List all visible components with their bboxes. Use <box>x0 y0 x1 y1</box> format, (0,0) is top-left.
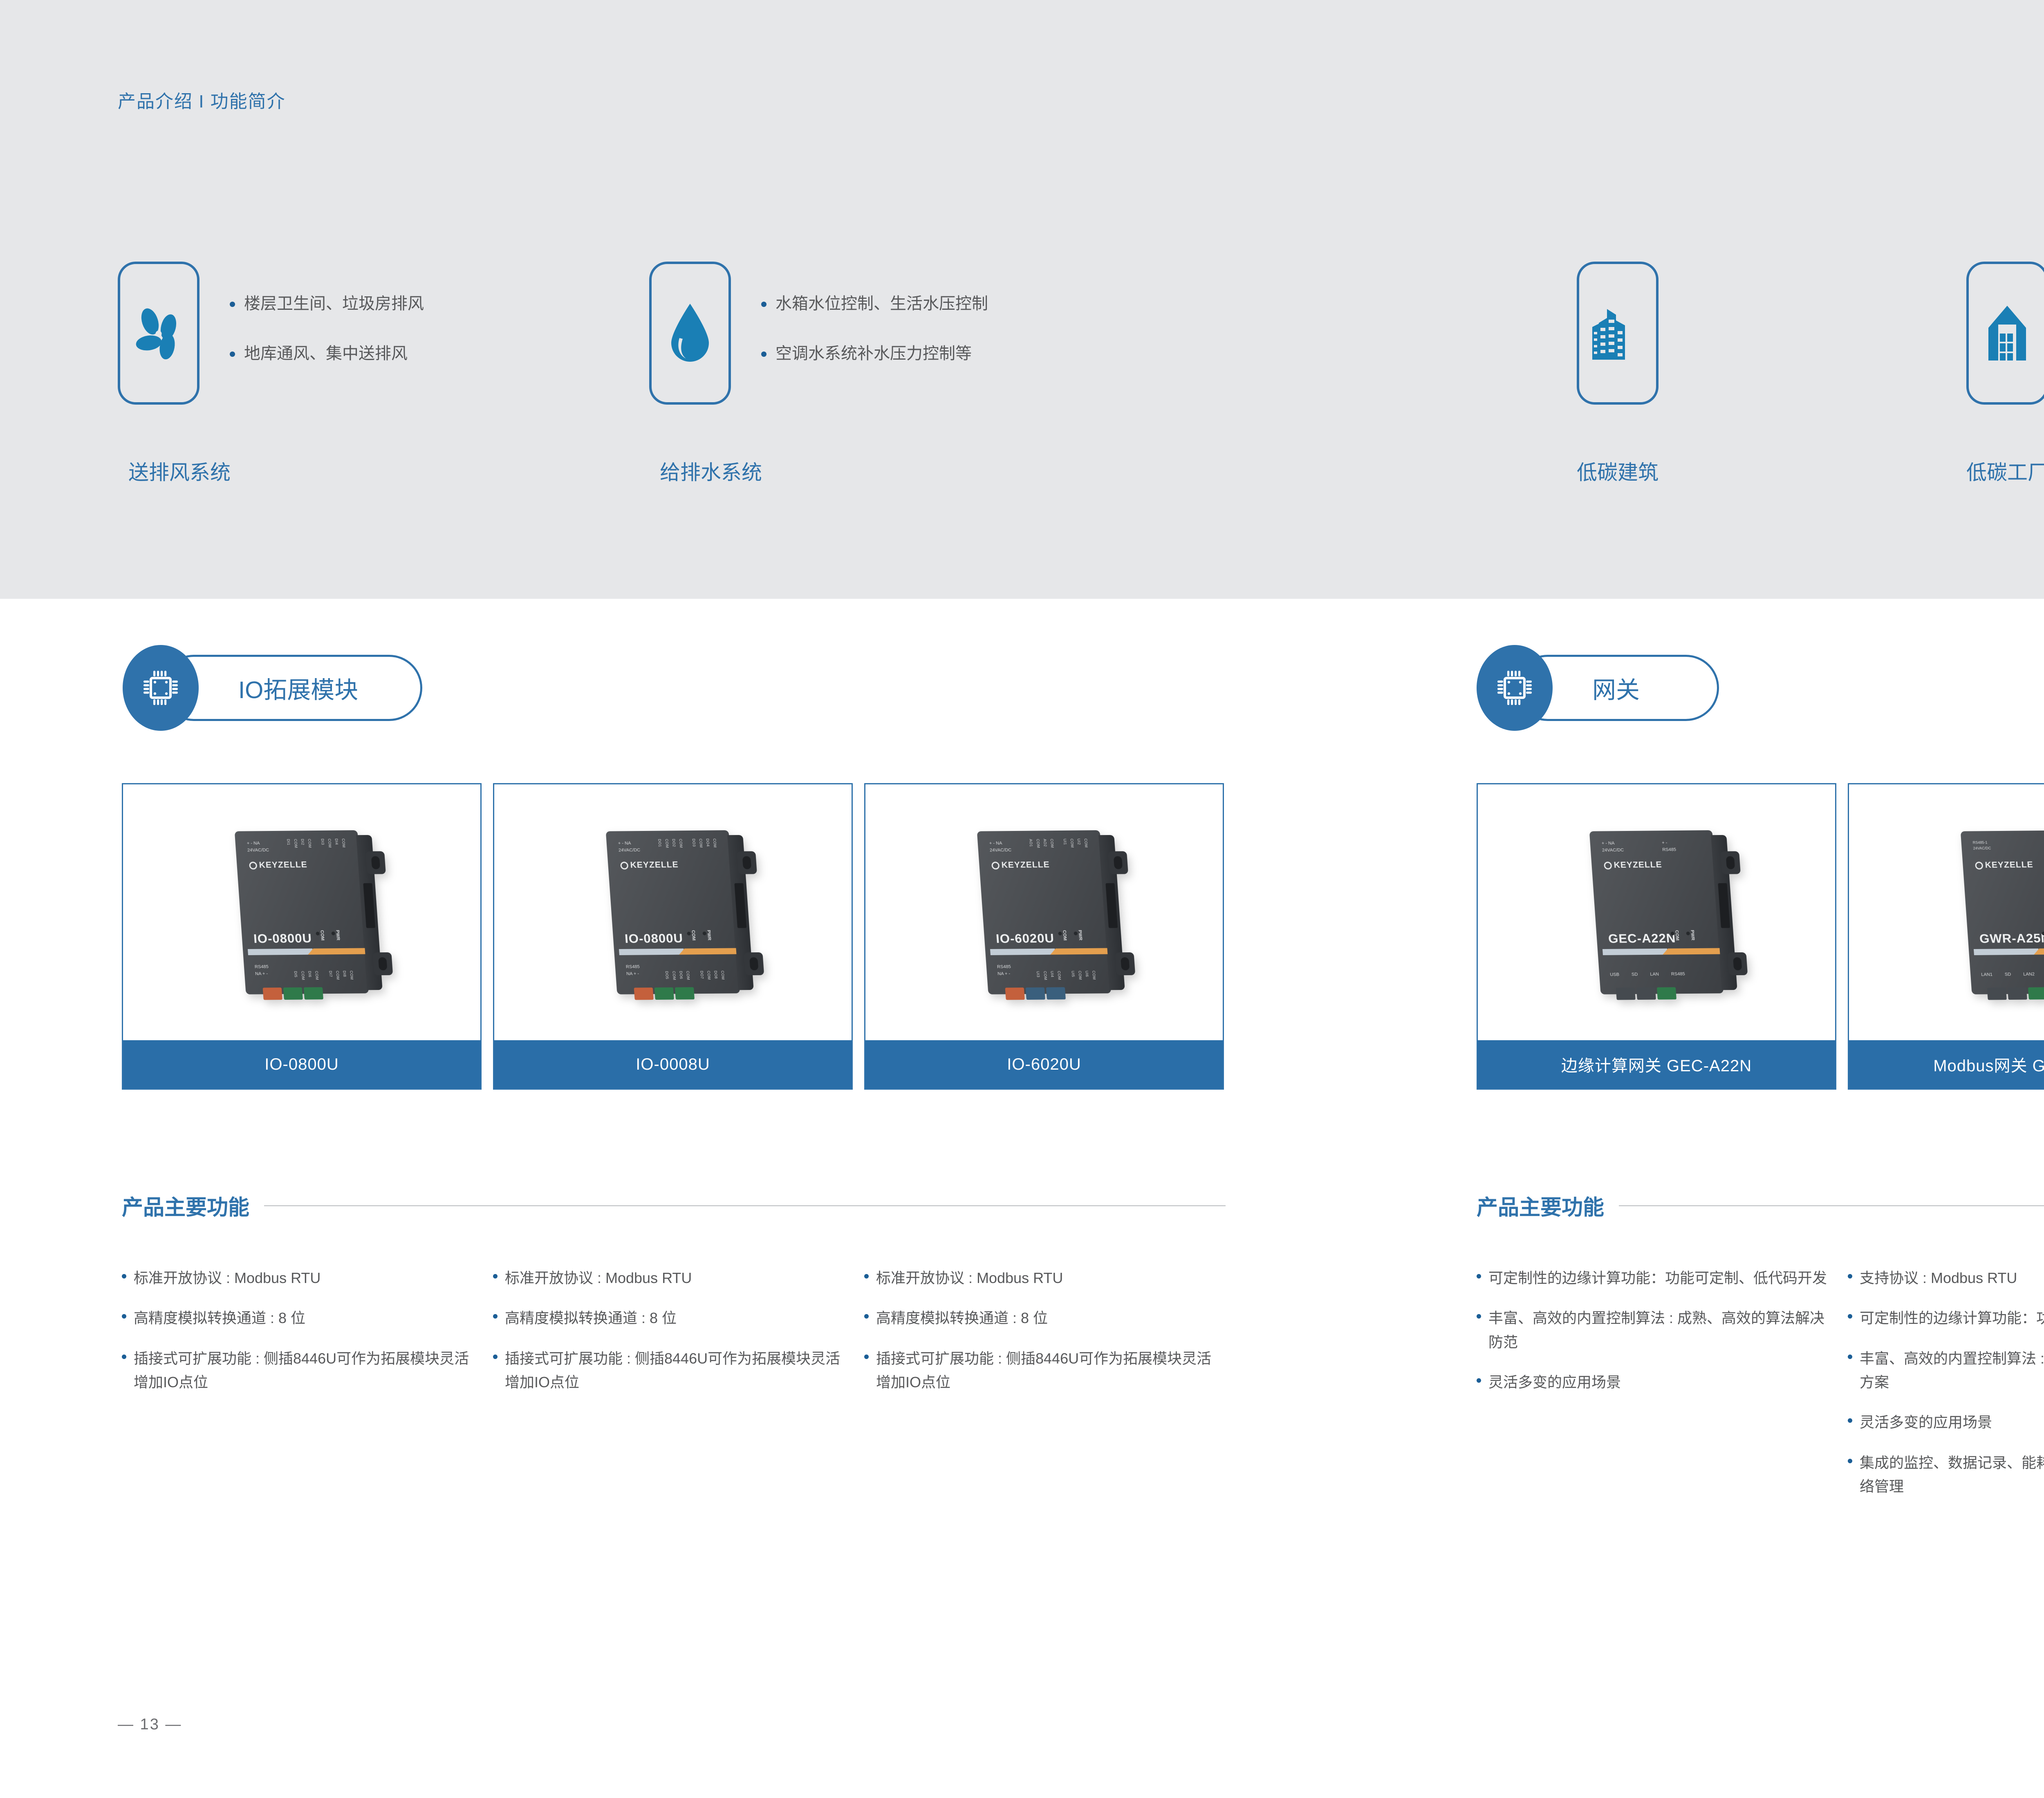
device-bus-label: RS485 NA + - <box>625 963 640 977</box>
bullet-item: 楼层卫生间、垃圾房排风 <box>230 293 424 314</box>
device-leds: COM PWR <box>2042 930 2044 940</box>
device-terminals <box>1616 987 1676 1000</box>
bullet-text: 楼层卫生间、垃圾房排风 <box>244 293 424 314</box>
feature-text: 丰富、高效的内置控制算法 : 成熟、高效的算法解决方案 <box>1860 1347 2044 1395</box>
feature-item: 高精度模拟转换通道 : 8 位 <box>493 1306 845 1330</box>
bullet-dot-icon <box>493 1355 498 1359</box>
device-mount-ear <box>744 952 764 975</box>
device-mount-ear <box>365 851 386 874</box>
feature-item: 支持协议 : Modbus RTU <box>1848 1266 2044 1290</box>
product-image: RS485-1 24VAC/DC KEYZELLE GWR-A25N COM P… <box>1849 784 2044 1040</box>
led-pwr: PWR <box>331 930 341 940</box>
feature-column-gateway-2: 支持协议 : Modbus RTU 可定制性的边缘计算功能：功能可定制、低代码开… <box>1848 1266 2044 1515</box>
device-bottom-pins-2: DI7 COM DI8 COM <box>328 970 354 980</box>
feature-text: 插接式可扩展功能 : 侧插8446U可作为拓展模块灵活增加IO点位 <box>134 1347 473 1395</box>
section-header-io-pill: IO拓展模块 <box>161 655 422 721</box>
feature-item: 丰富、高效的内置控制算法 : 成熟、高效的算法解决方案 <box>1848 1347 2044 1395</box>
chip-icon <box>139 667 182 709</box>
feature-item: 标准开放协议 : Modbus RTU <box>493 1266 845 1290</box>
product-card-io-0800u[interactable]: + - NA 24VAC/DC DI1 COM DI2 COM DI3 COM … <box>122 783 482 1090</box>
fan-icon <box>128 302 189 364</box>
scenario-water-supply-bullets: 水箱水位控制、生活水压控制 空调水系统补水压力控制等 <box>761 262 988 364</box>
feature-text: 插接式可扩展功能 : 侧插8446U可作为拓展模块灵活增加IO点位 <box>505 1347 845 1395</box>
feature-item: 可定制性的边缘计算功能：功能可定制、低代码开发 <box>1477 1266 1828 1290</box>
product-image: + - NA 24VAC/DC + - RS485 KEYZELLE GEC-A… <box>1478 784 1835 1040</box>
device-leds: COM PWR <box>1058 930 1083 940</box>
device-power-label: + - NA 24VAC/DC <box>247 840 269 853</box>
device-leds: COM PWR <box>687 930 712 940</box>
device-bottom-pins: DO5 COM DO6 COM <box>665 971 690 980</box>
device-stripe-orange <box>1050 948 1107 954</box>
device-brand: KEYZELLE <box>1604 860 1663 870</box>
bullet-dot-icon <box>122 1355 126 1359</box>
running-header-left: 产品介绍 I 功能简介 <box>118 87 286 113</box>
feature-text: 丰富、高效的内置控制算法 : 成熟、高效的算法解决防范 <box>1488 1306 1828 1354</box>
device-stripe-silver <box>1602 949 1667 955</box>
bullet-dot-icon <box>761 352 766 357</box>
feature-text: 灵活多变的应用场景 <box>1860 1411 1992 1434</box>
bullet-dot-icon <box>1477 1378 1481 1383</box>
bullet-dot-icon <box>1848 1418 1852 1423</box>
scenario-ventilation-bullets: 楼层卫生间、垃圾房排风 地库通风、集中送排风 <box>230 262 424 364</box>
device-top-pins: DI1 COM DI2 COM <box>286 839 312 848</box>
product-caption: IO-6020U <box>865 1040 1223 1088</box>
factory-icon <box>1979 298 2036 368</box>
device-leds: COM PWR <box>1670 930 1695 940</box>
device-mount-ear <box>372 952 393 975</box>
led-com: COM <box>2042 930 2044 941</box>
device-model-text: GWR-A25N <box>1979 931 2044 946</box>
water-drop-icon-box <box>649 262 731 405</box>
product-caption: IO-0800U <box>123 1040 480 1088</box>
fan-icon-box <box>118 262 199 405</box>
feature-text: 标准开放协议 : Modbus RTU <box>505 1266 692 1290</box>
product-image: + - NA 24VAC/DC DI1 COM DI2 COM DI3 COM … <box>123 784 480 1040</box>
device-terminals <box>1987 987 2044 1000</box>
device-top-pins-2: UI1 COM UI2 COM <box>1063 838 1089 848</box>
low-carbon-building-icon-box <box>1577 262 1659 405</box>
feature-column-gateway-1: 可定制性的边缘计算功能：功能可定制、低代码开发 丰富、高效的内置控制算法 : 成… <box>1477 1266 1828 1411</box>
device-top-pins: AO1 COM AO2 COM <box>1029 839 1054 848</box>
feature-item: 插接式可扩展功能 : 侧插8446U可作为拓展模块灵活增加IO点位 <box>864 1347 1216 1395</box>
feature-column-io-1: 标准开放协议 : Modbus RTU 高精度模拟转换通道 : 8 位 插接式可… <box>122 1266 473 1411</box>
device-body <box>1961 830 2044 994</box>
feature-item: 标准开放协议 : Modbus RTU <box>122 1266 473 1290</box>
feature-heading-gateway-title: 产品主要功能 <box>1477 1190 1604 1221</box>
bullet-dot-icon <box>1477 1274 1481 1279</box>
feature-text: 高精度模拟转换通道 : 8 位 <box>505 1306 677 1330</box>
device-bottom-pins: DI5 COM DI6 COM <box>294 971 319 980</box>
scenario-water-supply-label: 给排水系统 <box>660 456 762 486</box>
section-header-gateway-title: 网关 <box>1592 671 1640 705</box>
device-brand: KEYZELLE <box>249 860 308 870</box>
bullet-dot-icon <box>1848 1274 1852 1279</box>
brand-logo-icon <box>249 862 257 869</box>
brand-logo-icon <box>1604 862 1612 869</box>
product-card-io-6020u[interactable]: + - NA 24VAC/DC AO1 COM AO2 COM UI1 COM … <box>864 783 1224 1090</box>
device-power-label: + - NA 24VAC/DC <box>1601 840 1624 853</box>
low-carbon-factory-icon-box <box>1966 262 2044 405</box>
chip-icon-badge <box>1477 645 1553 731</box>
feature-text: 可定制性的边缘计算功能：功能可定制、低代码开发 <box>1860 1306 2044 1330</box>
led-com: COM <box>1058 930 1067 941</box>
scenario-water-supply: 水箱水位控制、生活水压控制 空调水系统补水压力控制等 <box>649 262 988 405</box>
bullet-text: 空调水系统补水压力控制等 <box>775 343 972 364</box>
device-stripe-silver <box>1974 949 2039 955</box>
bullet-dot-icon <box>1477 1314 1481 1319</box>
low-carbon-building-label: 低碳建筑 <box>1556 456 1679 486</box>
device-bottom-pins: UI3 COM UI4 COM <box>1036 971 1062 980</box>
chip-icon-badge <box>123 645 199 731</box>
bullet-dot-icon <box>230 302 235 307</box>
led-pwr: PWR <box>702 930 712 940</box>
device-power-label: + - NA 24VAC/DC <box>989 840 1011 853</box>
device-ports: USB SD LAN RS485 <box>1610 971 1685 978</box>
feature-heading-gateway: 产品主要功能 <box>1477 1190 2044 1221</box>
product-caption: 边缘计算网关 GEC-A22N <box>1478 1040 1835 1088</box>
feature-item: 标准开放协议 : Modbus RTU <box>864 1266 1216 1290</box>
device-bottom-pins-2: UI5 COM UI6 COM <box>1071 970 1096 980</box>
device-brand: KEYZELLE <box>1975 860 2034 870</box>
product-caption: IO-0008U <box>494 1040 852 1088</box>
section-header-gateway: 网关 <box>1477 645 1730 731</box>
device-power-label: RS485-1 24VAC/DC <box>1972 840 1991 851</box>
bullet-dot-icon <box>864 1355 869 1359</box>
brand-logo-icon <box>991 862 1000 869</box>
device-illustration: + - NA 24VAC/DC + - RS485 KEYZELLE GEC-A… <box>1589 830 1724 994</box>
device-mount-ear <box>1720 851 1741 874</box>
feature-item: 高精度模拟转换通道 : 8 位 <box>122 1306 473 1330</box>
bullet-dot-icon <box>1848 1314 1852 1319</box>
feature-text: 标准开放协议 : Modbus RTU <box>134 1266 320 1290</box>
scenario-ventilation: 楼层卫生间、垃圾房排风 地库通风、集中送排风 <box>118 262 424 405</box>
device-illustration: + - NA 24VAC/DC DO1 COM DO2 COM DO3 COM … <box>606 830 740 994</box>
device-bus-label: RS485 NA + - <box>254 963 269 977</box>
bullet-dot-icon <box>230 352 235 357</box>
feature-text: 高精度模拟转换通道 : 8 位 <box>134 1306 305 1330</box>
device-model-text: IO-6020U <box>995 931 1055 946</box>
section-header-io-title: IO拓展模块 <box>238 671 358 705</box>
led-pwr: PWR <box>1074 930 1083 940</box>
bullet-dot-icon <box>493 1314 498 1319</box>
bullet-dot-icon <box>122 1314 126 1319</box>
water-drop-icon <box>666 300 715 366</box>
feature-item: 丰富、高效的内置控制算法 : 成熟、高效的算法解决防范 <box>1477 1306 1828 1354</box>
bullet-dot-icon <box>1848 1459 1852 1463</box>
product-card-io-0008u[interactable]: + - NA 24VAC/DC DO1 COM DO2 COM DO3 COM … <box>493 783 853 1090</box>
bullet-item: 水箱水位控制、生活水压控制 <box>761 293 988 314</box>
section-header-io: IO拓展模块 <box>123 645 433 731</box>
device-bus-label-top: + - RS485 <box>1662 840 1676 853</box>
device-mount-ear <box>737 851 757 874</box>
device-ports: LAN1 SD LAN2 RS485 <box>1981 971 2044 978</box>
low-carbon-factory-label: 低碳工厂 <box>1946 456 2044 486</box>
bullet-dot-icon <box>122 1274 126 1279</box>
device-stripe-orange <box>679 948 736 954</box>
device-stripe-silver <box>248 949 313 955</box>
device-stripe-silver <box>619 949 684 955</box>
bullet-dot-icon <box>493 1274 498 1279</box>
device-illustration: RS485-1 24VAC/DC KEYZELLE GWR-A25N COM P… <box>1961 830 2044 994</box>
device-stripe-orange <box>1662 948 1720 954</box>
feature-text: 标准开放协议 : Modbus RTU <box>876 1266 1063 1290</box>
chip-icon <box>1493 667 1536 709</box>
device-model-text: IO-0800U <box>624 931 684 946</box>
feature-item: 灵活多变的应用场景 <box>1848 1411 2044 1434</box>
device-stripe-silver <box>990 949 1055 955</box>
feature-item: 可定制性的边缘计算功能：功能可定制、低代码开发 <box>1848 1306 2044 1330</box>
feature-heading-rule <box>1619 1205 2044 1206</box>
device-power-label: + - NA 24VAC/DC <box>618 840 640 853</box>
brand-logo-icon <box>620 862 628 869</box>
product-card-gwr-a25n[interactable]: RS485-1 24VAC/DC KEYZELLE GWR-A25N COM P… <box>1848 783 2044 1090</box>
device-bus-label: RS485 NA + - <box>997 963 1011 977</box>
product-caption: Modbus网关 GWR-A25N <box>1849 1040 2044 1088</box>
device-top-pins-2: DI3 COM DI4 COM <box>320 838 346 848</box>
feature-item: 灵活多变的应用场景 <box>1477 1370 1828 1394</box>
device-top-pins: DO1 COM DO2 COM <box>657 839 683 848</box>
device-stripe-orange <box>307 948 365 954</box>
feature-text: 支持协议 : Modbus RTU <box>1860 1266 2017 1290</box>
device-mount-ear <box>1727 952 1748 975</box>
device-illustration: + - NA 24VAC/DC DI1 COM DI2 COM DI3 COM … <box>235 830 369 994</box>
bullet-item: 空调水系统补水压力控制等 <box>761 343 988 364</box>
feature-text: 集成的监控、数据记录、能耗计量、报警、调度和网络管理 <box>1860 1451 2044 1499</box>
device-model-text: GEC-A22N <box>1608 931 1676 946</box>
product-card-gec-a22n[interactable]: + - NA 24VAC/DC + - RS485 KEYZELLE GEC-A… <box>1477 783 1836 1090</box>
scenario-ventilation-label: 送排风系统 <box>128 456 231 486</box>
bullet-dot-icon <box>864 1314 869 1319</box>
feature-item: 插接式可扩展功能 : 侧插8446U可作为拓展模块灵活增加IO点位 <box>122 1347 473 1395</box>
bullet-text: 水箱水位控制、生活水压控制 <box>775 293 988 314</box>
feature-column-io-3: 标准开放协议 : Modbus RTU 高精度模拟转换通道 : 8 位 插接式可… <box>864 1266 1216 1411</box>
device-terminals <box>634 987 695 1000</box>
feature-item: 集成的监控、数据记录、能耗计量、报警、调度和网络管理 <box>1848 1451 2044 1499</box>
feature-text: 插接式可扩展功能 : 侧插8446U可作为拓展模块灵活增加IO点位 <box>876 1347 1216 1395</box>
device-model-text: IO-0800U <box>253 931 312 946</box>
feature-heading-io: 产品主要功能 <box>122 1190 1226 1221</box>
feature-text: 灵活多变的应用场景 <box>1488 1370 1621 1394</box>
led-com: COM <box>316 930 325 941</box>
feature-item: 高精度模拟转换通道 : 8 位 <box>864 1306 1216 1330</box>
product-image: + - NA 24VAC/DC AO1 COM AO2 COM UI1 COM … <box>865 784 1223 1040</box>
device-body <box>1589 830 1724 994</box>
device-illustration: + - NA 24VAC/DC AO1 COM AO2 COM UI1 COM … <box>977 830 1111 994</box>
led-com: COM <box>1670 930 1680 941</box>
feature-heading-io-title: 产品主要功能 <box>122 1190 249 1221</box>
bullet-text: 地库通风、集中送排风 <box>244 343 408 364</box>
led-pwr: PWR <box>1686 930 1695 940</box>
feature-column-io-2: 标准开放协议 : Modbus RTU 高精度模拟转换通道 : 8 位 插接式可… <box>493 1266 845 1411</box>
page-number-left: — 13 — <box>118 1716 182 1733</box>
office-building-icon <box>1589 298 1646 368</box>
device-leds: COM PWR <box>316 930 341 940</box>
device-mount-ear <box>1108 851 1128 874</box>
device-brand: KEYZELLE <box>620 860 679 870</box>
bullet-item: 地库通风、集中送排风 <box>230 343 424 364</box>
led-com: COM <box>687 930 696 941</box>
device-bottom-pins-2: DO7 COM DO8 COM <box>699 970 725 980</box>
device-brand: KEYZELLE <box>991 860 1050 870</box>
bullet-dot-icon <box>1848 1355 1852 1359</box>
device-terminals <box>1005 987 1066 1000</box>
brand-logo-icon <box>1975 862 1983 869</box>
bullet-dot-icon <box>864 1274 869 1279</box>
device-top-pins-2: DO3 COM DO4 COM <box>692 838 717 848</box>
feature-heading-rule <box>264 1205 1226 1206</box>
feature-item: 插接式可扩展功能 : 侧插8446U可作为拓展模块灵活增加IO点位 <box>493 1347 845 1395</box>
feature-text: 可定制性的边缘计算功能：功能可定制、低代码开发 <box>1488 1266 1827 1290</box>
device-terminals <box>263 987 323 1000</box>
bullet-dot-icon <box>761 302 766 307</box>
product-image: + - NA 24VAC/DC DO1 COM DO2 COM DO3 COM … <box>494 784 852 1040</box>
feature-text: 高精度模拟转换通道 : 8 位 <box>876 1306 1048 1330</box>
device-mount-ear <box>1115 952 1135 975</box>
